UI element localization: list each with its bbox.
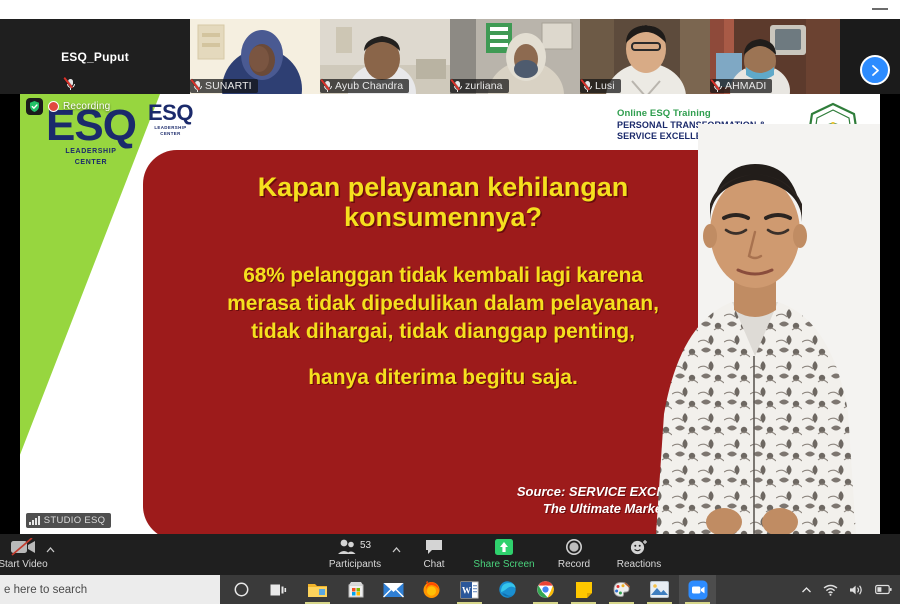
reactions-button[interactable]: Reactions [602,537,676,570]
chevron-up-icon[interactable] [801,586,812,594]
esq-logo-small-word: ESQ [148,104,193,123]
presenter-video [620,124,880,534]
reactions-label: Reactions [617,559,661,570]
participants-label: Participants [329,559,381,570]
chat-label: Chat [423,559,444,570]
chrome-icon[interactable] [527,575,564,604]
chat-icon [424,537,444,557]
recording-label: Recording [63,101,110,112]
record-button[interactable]: Record [537,537,611,570]
zoom-meeting-window: ESQ_Puput SUNARTI [0,0,900,604]
esq-logo-small: ESQ LEADERSHIP CENTER [148,104,193,136]
zoom-toolbar: Start Video 53 Participants [0,534,900,575]
video-off-icon [10,537,36,557]
file-explorer-icon[interactable] [299,575,336,604]
studio-label: STUDIO ESQ [44,515,106,526]
battery-icon[interactable] [875,584,892,595]
windows-taskbar: e here to search [0,575,900,604]
participant-tile-ayub-chandra[interactable]: Ayub Chandra [320,19,450,94]
windows-search-box[interactable]: e here to search [0,575,220,604]
participant-filmstrip: ESQ_Puput SUNARTI [0,19,900,94]
participant-name-badge: AHMADI [710,79,772,93]
zoom-icon[interactable] [679,575,716,604]
mic-off-icon [193,80,202,92]
esq-logo-small-subline1: LEADERSHIP [148,126,193,130]
system-tray [801,575,896,604]
word-icon[interactable]: W [451,575,488,604]
chat-button[interactable]: Chat [397,537,471,570]
participant-name-badge: zurliana [450,79,509,93]
training-title-line1: Online ESQ Training [617,108,766,120]
minimize-button[interactable] [872,8,888,10]
paint-icon[interactable] [603,575,640,604]
participant-tile-ahmadi[interactable]: AHMADI [710,19,840,94]
photos-icon[interactable] [641,575,678,604]
sticky-notes-icon[interactable] [565,575,602,604]
mic-off-icon [66,78,75,90]
esq-logo-subline2: CENTER [46,160,136,166]
presenter-video-overlay[interactable] [620,124,880,534]
mic-off-icon [323,80,332,92]
studio-name-badge: STUDIO ESQ [26,513,111,528]
participant-tile-lusi[interactable]: Lusi [580,19,710,94]
wifi-icon[interactable] [823,584,838,596]
mic-off-icon [713,80,722,92]
recording-dot-icon [48,101,59,112]
participant-name-badge: Ayub Chandra [320,79,409,93]
microsoft-store-icon[interactable] [337,575,374,604]
cortana-circle-icon[interactable] [222,575,260,604]
window-title-strip [0,0,900,19]
task-view-icon[interactable] [259,575,297,604]
share-screen-icon [493,537,515,557]
participant-name-label: zurliana [465,80,503,92]
mic-off-icon [583,80,592,92]
participant-name-label: Ayub Chandra [335,80,403,92]
share-screen-button[interactable]: Share Screen [467,537,541,570]
participant-name-badge: SUNARTI [190,79,258,93]
svg-text:W: W [462,585,471,595]
signal-bars-icon [29,516,40,525]
mic-off-icon [453,80,462,92]
participant-tile-zurliana[interactable]: zurliana [450,19,580,94]
esq-logo-large: ESQ LEADERSHIP CENTER [46,108,136,166]
participant-name-label: Lusi [595,80,615,92]
participant-tile-sunarti[interactable]: SUNARTI [190,19,320,94]
shield-check-icon[interactable] [26,98,43,115]
participant-tile-host[interactable]: ESQ_Puput [0,19,190,94]
chevron-right-icon[interactable] [860,55,890,85]
participants-button[interactable]: 53 Participants [318,537,392,570]
share-screen-label: Share Screen [473,559,534,570]
participants-icon: 53 [336,537,374,557]
mail-icon[interactable] [375,575,412,604]
reactions-icon [629,537,649,557]
record-icon [565,537,583,557]
speaker-icon[interactable] [849,584,864,596]
video-options-caret-icon[interactable] [46,545,55,555]
record-label: Record [558,559,590,570]
host-name-label: ESQ_Puput [61,50,129,64]
participant-name-label: SUNARTI [205,80,252,92]
esq-logo-small-subline2: CENTER [148,132,193,136]
participant-name-badge: Lusi [580,79,621,93]
firefox-icon[interactable] [413,575,450,604]
edge-icon[interactable] [489,575,526,604]
start-video-label: Start Video [0,559,48,570]
svg-text:53: 53 [360,540,372,551]
recording-indicator[interactable]: Recording [26,98,110,115]
participant-name-label: AHMADI [725,80,766,92]
windows-search-placeholder: e here to search [0,584,87,596]
shared-screen-area[interactable]: ESQ LEADERSHIP CENTER ESQ LEADERSHIP CEN… [20,94,880,534]
